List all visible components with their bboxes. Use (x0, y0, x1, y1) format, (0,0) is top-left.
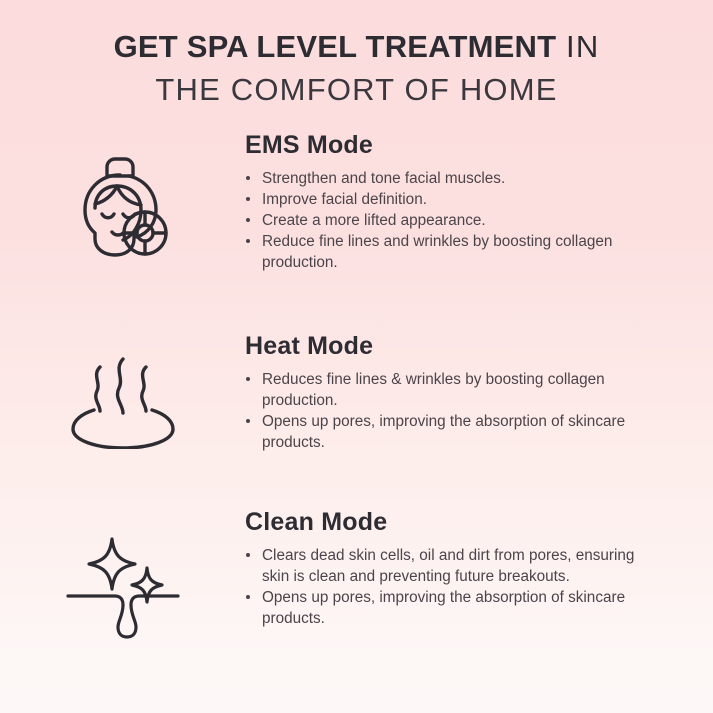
headline-line-2: THE COMFORT OF HOME (0, 68, 713, 112)
bullet-text: Opens up pores, improving the absorption… (262, 589, 625, 627)
bullet-list-heat: Reduces fine lines & wrinkles by boostin… (245, 369, 643, 453)
icon-column-clean (0, 507, 245, 639)
list-item: Create a more lifted appearance. (245, 210, 643, 231)
headline-strong-text: GET SPA LEVEL TREATMENT (114, 29, 557, 64)
icon-column-ems (0, 130, 245, 260)
headline-line-1: GET SPA LEVEL TREATMENT IN (0, 26, 713, 68)
icon-column-heat (0, 331, 245, 449)
bullet-dot-icon (246, 239, 250, 243)
section-clean: Clean Mode Clears dead skin cells, oil a… (0, 507, 713, 639)
list-item: Strengthen and tone facial muscles. (245, 168, 643, 189)
hot-spring-steam-icon (67, 353, 179, 449)
clean-pore-sparkle-icon (65, 533, 181, 639)
bullet-list-clean: Clears dead skin cells, oil and dirt fro… (245, 545, 643, 629)
bullet-dot-icon (246, 377, 250, 381)
list-item: Reduce fine lines and wrinkles by boosti… (245, 231, 643, 273)
sparkle-large-icon (89, 539, 135, 589)
list-item: Clears dead skin cells, oil and dirt fro… (245, 545, 643, 587)
mode-sections: EMS Mode Strengthen and tone facial musc… (0, 130, 713, 639)
list-item: Reduces fine lines & wrinkles by boostin… (245, 369, 643, 411)
bullet-dot-icon (246, 553, 250, 557)
text-column-heat: Heat Mode Reduces fine lines & wrinkles … (245, 331, 713, 453)
bullet-dot-icon (246, 197, 250, 201)
poster-root: GET SPA LEVEL TREATMENT IN THE COMFORT O… (0, 0, 713, 713)
bullet-text: Reduces fine lines & wrinkles by boostin… (262, 371, 605, 409)
bullet-dot-icon (246, 419, 250, 423)
text-column-clean: Clean Mode Clears dead skin cells, oil a… (245, 507, 713, 629)
list-item: Opens up pores, improving the absorption… (245, 411, 643, 453)
text-column-ems: EMS Mode Strengthen and tone facial musc… (245, 130, 713, 273)
mode-title-ems: EMS Mode (245, 130, 643, 160)
bullet-text: Create a more lifted appearance. (262, 212, 486, 229)
woman-face-with-device-icon (71, 148, 175, 260)
headline-block: GET SPA LEVEL TREATMENT IN THE COMFORT O… (0, 0, 713, 112)
bullet-dot-icon (246, 595, 250, 599)
mode-title-heat: Heat Mode (245, 331, 643, 361)
section-heat: Heat Mode Reduces fine lines & wrinkles … (0, 331, 713, 453)
list-item: Opens up pores, improving the absorption… (245, 587, 643, 629)
bullet-list-ems: Strengthen and tone facial muscles. Impr… (245, 168, 643, 273)
bullet-dot-icon (246, 218, 250, 222)
bullet-text: Strengthen and tone facial muscles. (262, 170, 505, 187)
bullet-text: Reduce fine lines and wrinkles by boosti… (262, 233, 612, 271)
headline-light-text: IN (556, 29, 599, 64)
bullet-dot-icon (246, 176, 250, 180)
list-item: Improve facial definition. (245, 189, 643, 210)
bullet-text: Clears dead skin cells, oil and dirt fro… (262, 547, 634, 585)
bullet-text: Opens up pores, improving the absorption… (262, 413, 625, 451)
bullet-text: Improve facial definition. (262, 191, 427, 208)
mode-title-clean: Clean Mode (245, 507, 643, 537)
section-ems: EMS Mode Strengthen and tone facial musc… (0, 130, 713, 273)
